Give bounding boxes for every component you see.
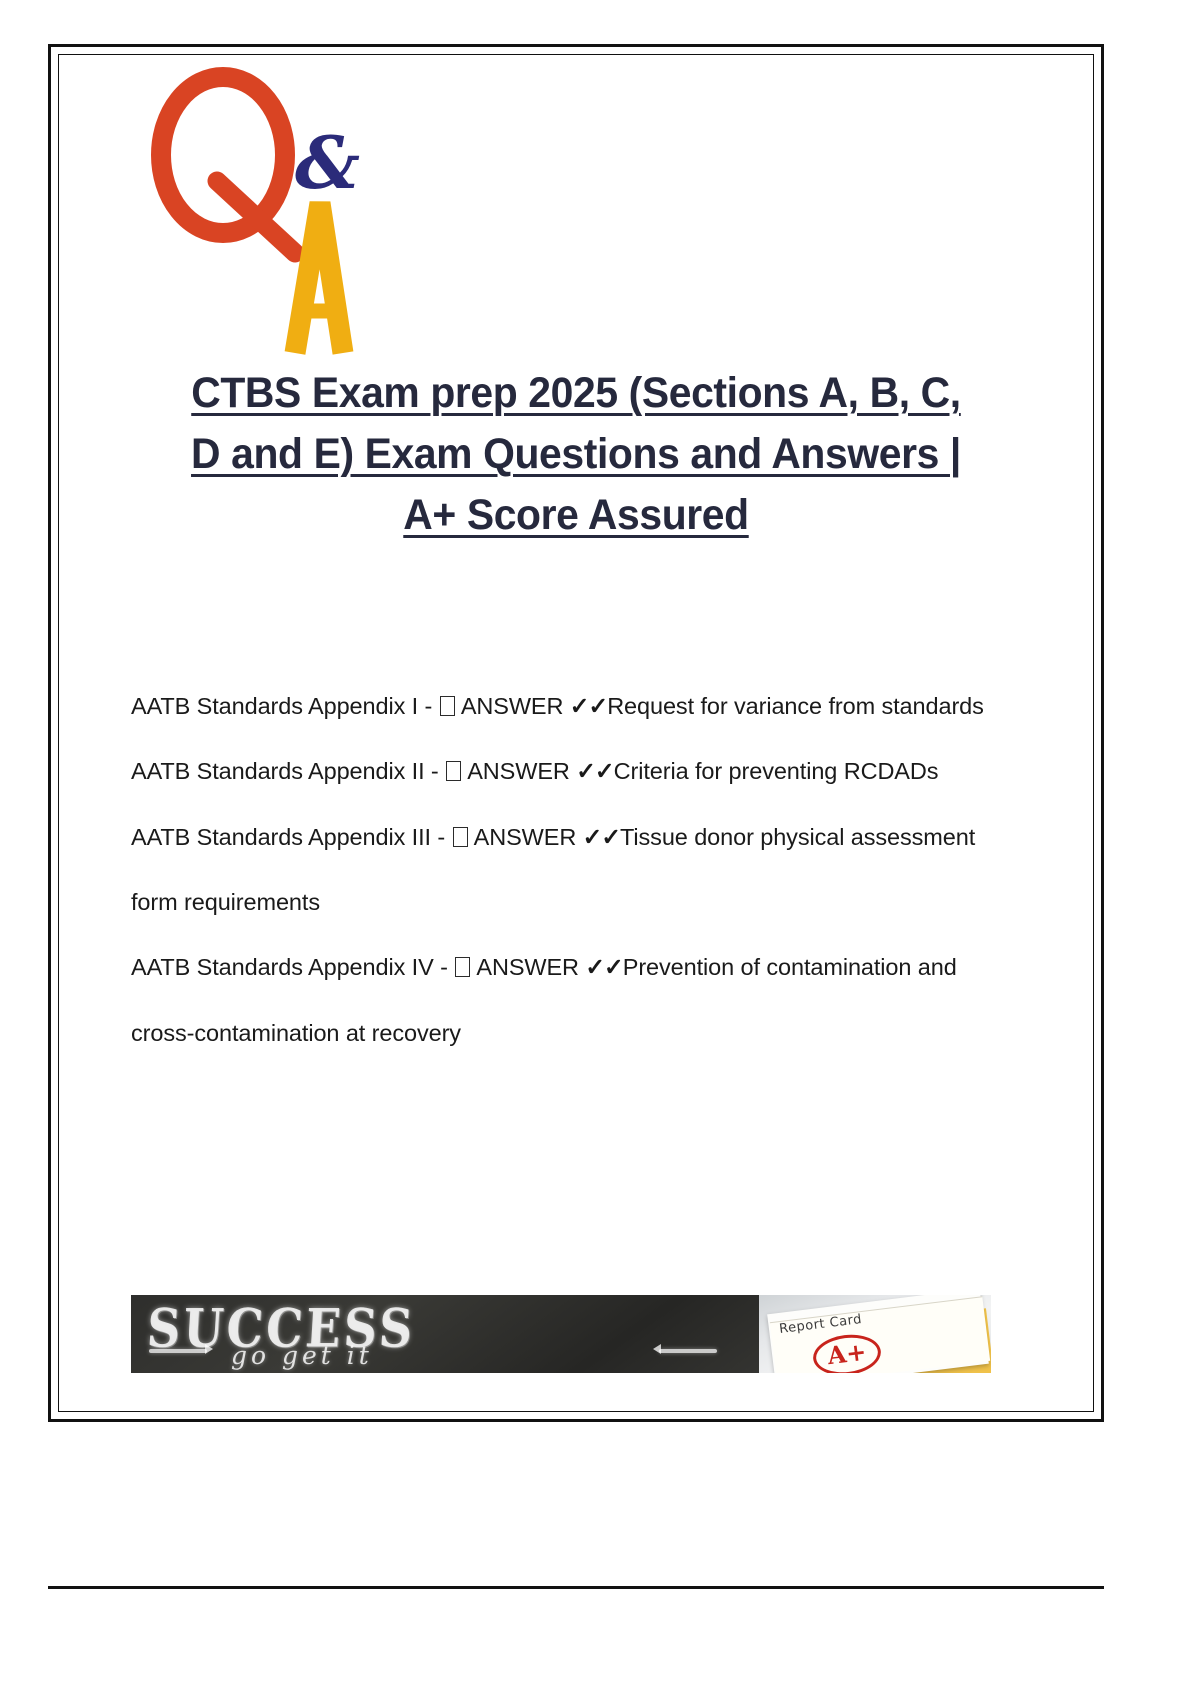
- qa-list: AATB Standards Appendix I - ANSWER ✓✓Req…: [131, 674, 1021, 1066]
- title-line-3: A+ Score Assured: [403, 491, 748, 539]
- qa-answer-label: ANSWER: [467, 758, 570, 784]
- page-border-inner: & CTBS Exam prep 2025 (Sections A, B, C,…: [58, 54, 1094, 1412]
- check-icon: ✓✓: [585, 954, 622, 980]
- qa-logo: &: [143, 63, 373, 363]
- chalk-arrow-left-icon: [149, 1349, 207, 1353]
- qa-item: AATB Standards Appendix IV - ANSWER ✓✓Pr…: [131, 935, 1021, 1066]
- page-content: & CTBS Exam prep 2025 (Sections A, B, C,…: [59, 55, 1093, 1411]
- qa-item: AATB Standards Appendix III - ANSWER ✓✓T…: [131, 805, 1021, 936]
- missing-glyph-icon: [440, 696, 455, 716]
- qa-item: AATB Standards Appendix I - ANSWER ✓✓Req…: [131, 674, 1021, 739]
- title-line-2: D and E) Exam Questions and Answers |: [191, 430, 961, 478]
- qa-prompt: AATB Standards Appendix III -: [131, 824, 452, 850]
- qa-answer: Request for variance from standards: [607, 693, 984, 719]
- qa-answer-label: ANSWER: [461, 693, 564, 719]
- chalkboard-image: SUCCESS go get it: [131, 1295, 759, 1373]
- next-page-top-rule: [48, 1586, 1104, 1589]
- svg-text:&: &: [295, 120, 360, 205]
- check-icon: ✓✓: [583, 824, 620, 850]
- check-icon: ✓✓: [576, 758, 613, 784]
- chalk-subtext: go get it: [231, 1341, 373, 1370]
- qa-answer-label: ANSWER: [474, 824, 577, 850]
- page-border-outer: & CTBS Exam prep 2025 (Sections A, B, C,…: [48, 44, 1104, 1422]
- qa-item: AATB Standards Appendix II - ANSWER ✓✓Cr…: [131, 739, 1021, 804]
- title-line-1: CTBS Exam prep 2025 (Sections A, B, C,: [191, 369, 961, 417]
- success-banner-image: SUCCESS go get it Report Card A+: [131, 1295, 991, 1373]
- check-icon: ✓✓: [570, 693, 607, 719]
- qa-prompt: AATB Standards Appendix I -: [131, 693, 439, 719]
- report-card-sheet-front: [770, 1296, 990, 1373]
- report-card-image: Report Card A+: [759, 1295, 991, 1373]
- logo-letter-a: [295, 203, 343, 353]
- missing-glyph-icon: [455, 957, 470, 977]
- qa-prompt: AATB Standards Appendix II -: [131, 758, 445, 784]
- qa-answer: Criteria for preventing RCDADs: [614, 758, 939, 784]
- chalk-arrow-right-icon: [659, 1349, 717, 1353]
- missing-glyph-icon: [453, 827, 468, 847]
- logo-letter-q: [161, 77, 295, 253]
- qa-answer-label: ANSWER: [476, 954, 579, 980]
- logo-letter-ampersand: &: [295, 120, 360, 205]
- page-title: CTBS Exam prep 2025 (Sections A, B, C, D…: [153, 363, 999, 546]
- missing-glyph-icon: [446, 761, 461, 781]
- qa-prompt: AATB Standards Appendix IV -: [131, 954, 454, 980]
